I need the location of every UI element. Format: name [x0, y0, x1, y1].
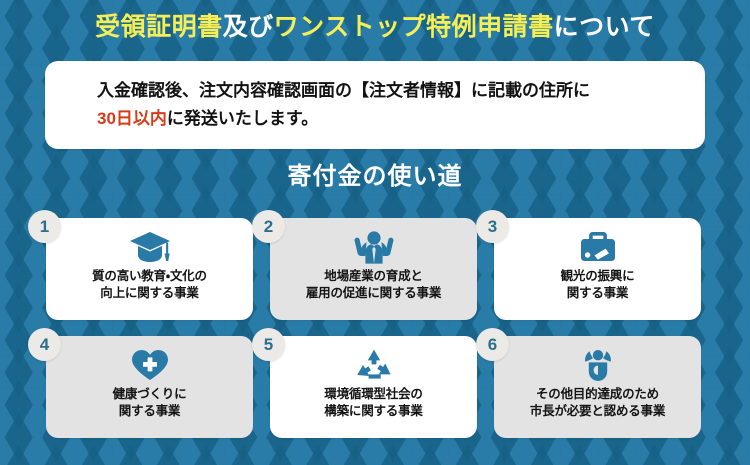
card-number-badge-1: 1	[28, 210, 61, 243]
card-label-1-line-2: 向上に関する事業	[100, 285, 198, 302]
use-card-3[interactable]: 3 観光の振興に 関する事業	[494, 218, 701, 320]
notice-line-2-rest: に発送いたします。	[167, 109, 318, 128]
content-layer: 受領証明書及びワンストップ特例申請書について 入金確認後、注文内容確認画面の【注…	[0, 0, 750, 465]
card-label-1-line-1: 質の高い教育・文化の	[92, 268, 207, 285]
heart-plus-icon	[130, 346, 170, 384]
card-number-badge-6: 6	[476, 328, 509, 361]
page-title: 受領証明書及びワンストップ特例申請書について	[0, 10, 750, 44]
use-card-1[interactable]: 1 質の高い教育・文化の 向上に関する事業	[46, 218, 253, 320]
card-label-4-line-2: 関する事業	[119, 403, 181, 420]
card-label-3-line-2: 関する事業	[567, 285, 629, 302]
page-title-segment-1: 受領証明書	[95, 13, 223, 41]
card-number-badge-4: 4	[28, 328, 61, 361]
section-heading: 寄付金の使い道	[0, 160, 750, 194]
card-number-badge-2: 2	[252, 210, 285, 243]
person-raising-arms-icon	[353, 228, 395, 266]
use-card-4[interactable]: 4 健康づくりに 関する事業	[46, 336, 253, 438]
card-label-6-line-2: 市長が必要と認める事業	[530, 403, 665, 420]
use-card-5[interactable]: 5 環境循環型社会の 構築に関する事業	[270, 336, 477, 438]
card-number-badge-3: 3	[476, 210, 509, 243]
card-label-4-line-1: 健康づくりに	[113, 386, 187, 403]
notice-text-block: 入金確認後、注文内容確認画面の【注文者情報】に記載の住所に 30日以内に発送いた…	[97, 77, 685, 133]
card-label-2-line-1: 地場産業の育成と	[324, 268, 422, 285]
notice-highlight-term: 30日以内	[97, 109, 167, 128]
card-label-5-line-2: 構築に関する事業	[324, 403, 422, 420]
card-number-badge-5: 5	[252, 328, 285, 361]
card-label-3-line-1: 観光の振興に	[561, 268, 635, 285]
page-title-segment-3: ワンストップ特例申請書	[274, 13, 554, 41]
recycle-icon	[355, 346, 393, 384]
notice-line-1: 入金確認後、注文内容確認画面の【注文者情報】に記載の住所に	[97, 77, 685, 105]
notice-line-2: 30日以内に発送いたします。	[97, 105, 685, 133]
page-title-segment-2: 及び	[223, 13, 274, 41]
person-in-cup-icon	[581, 346, 615, 384]
use-card-2[interactable]: 2 地場産業の育成と 雇用の促進に関する事業	[270, 218, 477, 320]
notice-card: 入金確認後、注文内容確認画面の【注文者情報】に記載の住所に 30日以内に発送いた…	[45, 61, 705, 149]
use-card-6[interactable]: 6 その他目的達成のため 市長が必要と認める事業	[494, 336, 701, 438]
page-title-segment-4: について	[554, 13, 655, 41]
graduation-cap-icon	[129, 228, 171, 266]
suitcase-icon	[577, 228, 619, 266]
card-label-5-line-1: 環境循環型社会の	[324, 386, 422, 403]
donation-use-card-grid: 1 質の高い教育・文化の 向上に関する事業 2	[46, 218, 704, 438]
card-label-6-line-1: その他目的達成のため	[536, 386, 659, 403]
card-label-2-line-2: 雇用の促進に関する事業	[306, 285, 441, 302]
infographic-page: 受領証明書及びワンストップ特例申請書について 入金確認後、注文内容確認画面の【注…	[0, 0, 750, 465]
